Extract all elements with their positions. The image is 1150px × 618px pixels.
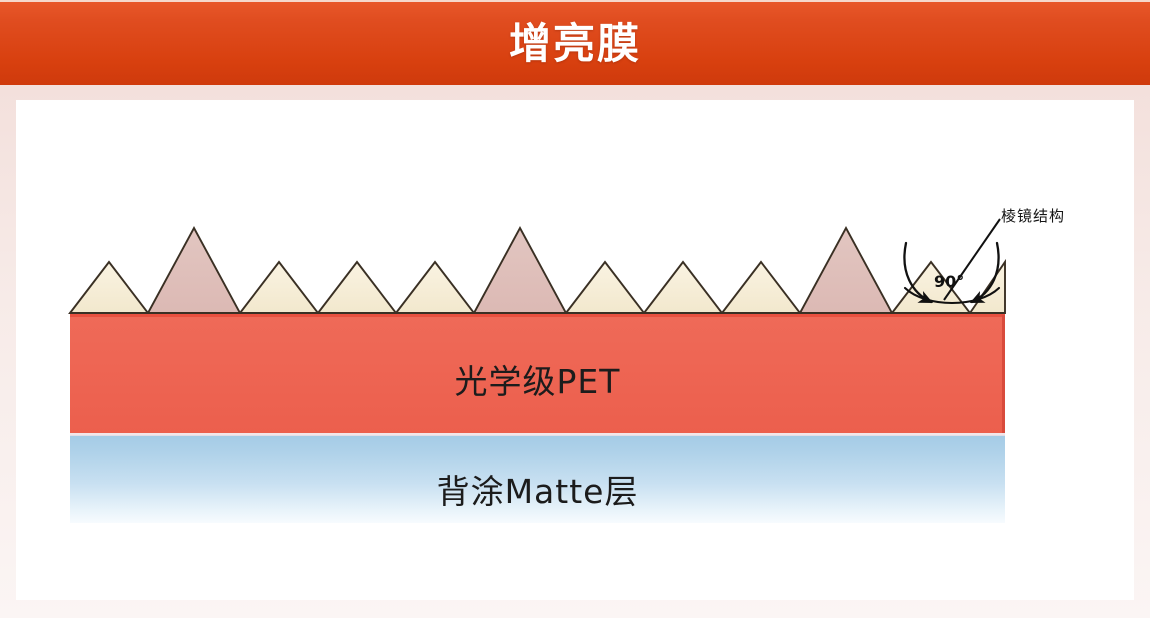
- matte-layer-label: 背涂Matte层: [0, 465, 1075, 513]
- prism-layer: [70, 228, 1005, 313]
- pet-layer-label: 光学级PET: [0, 355, 1075, 403]
- prism-triangle: [70, 262, 148, 313]
- prism-triangle: [566, 262, 644, 313]
- film-cross-section-diagram: [0, 0, 1150, 618]
- prism-triangle: [396, 262, 474, 313]
- prism-structure-callout-label: 棱镜结构: [1001, 205, 1065, 226]
- prism-triangle: [318, 262, 396, 313]
- prism-triangle: [800, 228, 892, 313]
- diagram-stage: 光学级PET 背涂Matte层 棱镜结构 90°: [0, 0, 1150, 618]
- prism-triangle: [148, 228, 240, 313]
- prism-triangle: [474, 228, 566, 313]
- prism-triangle: [644, 262, 722, 313]
- prism-triangle: [240, 262, 318, 313]
- prism-angle-label: 90°: [934, 272, 964, 291]
- prism-triangle: [722, 262, 800, 313]
